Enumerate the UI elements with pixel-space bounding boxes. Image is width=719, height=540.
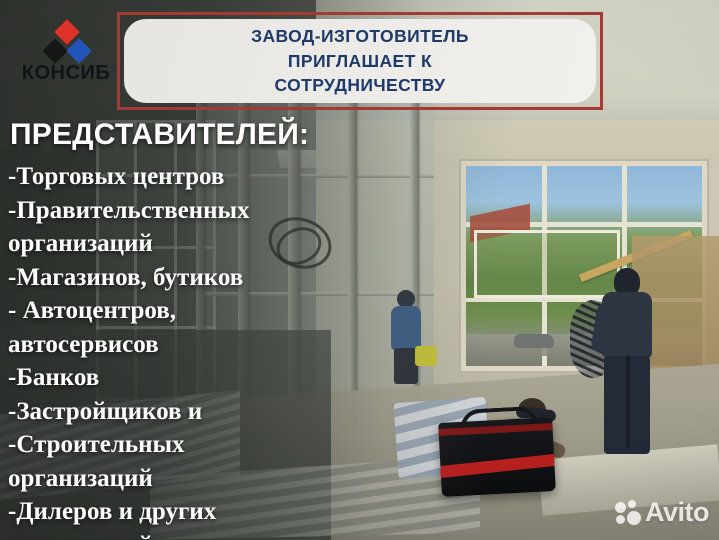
list-item: -Торговых центров xyxy=(8,160,368,194)
list-item: - Автоцентров, xyxy=(8,294,368,328)
representatives-list: -Торговых центров -Правительственных орг… xyxy=(8,160,368,540)
registered-mark-icon: ® xyxy=(110,62,116,71)
logo-wordmark: КОНСИБ xyxy=(14,62,118,85)
list-item: автосервисов xyxy=(8,328,368,362)
avito-watermark: Avito xyxy=(615,497,709,528)
konsib-logo: КОНСИБ ® xyxy=(14,22,118,86)
page-title: ПРЕДСТАВИТЕЛЕЙ: xyxy=(10,118,309,152)
banner-line-3: СОТРУДНИЧЕСТВУ xyxy=(275,73,446,98)
list-item: -Правительственных xyxy=(8,194,368,228)
headline-banner: ЗАВОД-ИЗГОТОВИТЕЛЬ ПРИГЛАШАЕТ К СОТРУДНИ… xyxy=(117,12,603,110)
banner-line-1: ЗАВОД-ИЗГОТОВИТЕЛЬ xyxy=(251,24,469,49)
banner-plate: ЗАВОД-ИЗГОТОВИТЕЛЬ ПРИГЛАШАЕТ К СОТРУДНИ… xyxy=(124,19,596,103)
list-item: организаций xyxy=(8,462,368,496)
avito-wordmark: Avito xyxy=(645,497,709,528)
list-item: организаций xyxy=(8,227,368,261)
advertisement-image: КОНСИБ ® ЗАВОД-ИЗГОТОВИТЕЛЬ ПРИГЛАШАЕТ К… xyxy=(0,0,719,540)
list-item: -Магазинов, бутиков xyxy=(8,261,368,295)
list-item: -Дилеров и других xyxy=(8,495,368,529)
list-item: -Застройщиков и xyxy=(8,395,368,429)
avito-logo-icon xyxy=(615,500,641,526)
logo-diamonds-icon xyxy=(36,22,96,62)
banner-line-2: ПРИГЛАШАЕТ К xyxy=(288,49,432,74)
list-item: -Банков xyxy=(8,361,368,395)
list-item: -Строительных xyxy=(8,428,368,462)
list-item: организаций xyxy=(8,529,368,540)
